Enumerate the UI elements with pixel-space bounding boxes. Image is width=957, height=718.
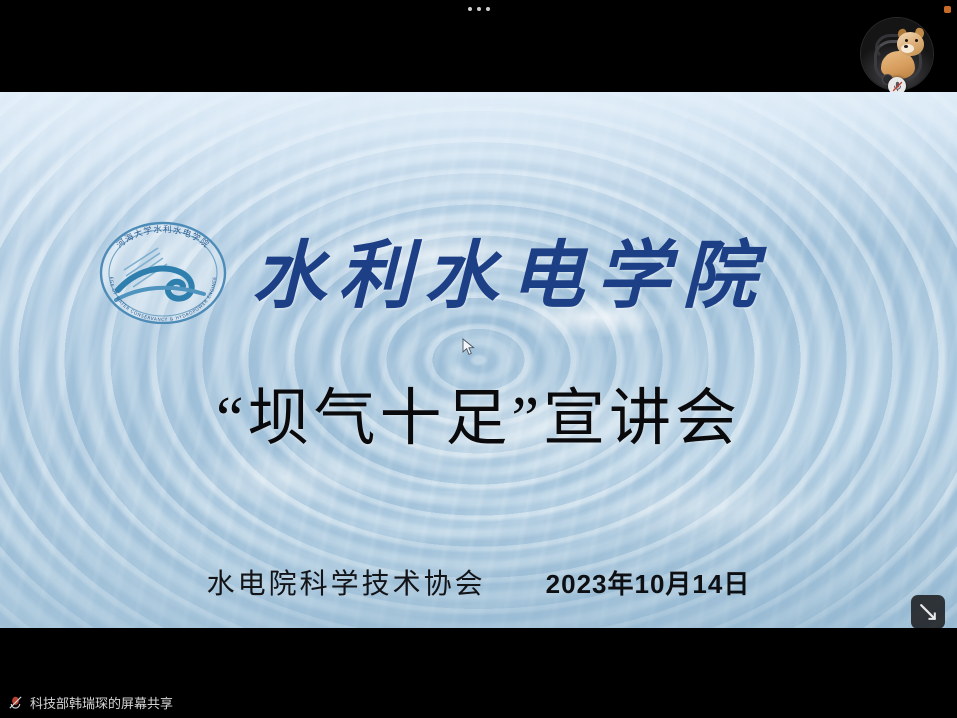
meeting-bottom-bar: 科技部韩瑞琛的屏幕共享 xyxy=(0,628,957,718)
dog-eye-left-shape xyxy=(905,39,908,42)
slide-main-title: “坝气十足”宣讲会 xyxy=(0,382,957,456)
slide-date-label: 2023年10月14日 xyxy=(546,564,751,601)
zoom-meeting-window: 水工1班尚婉玉 xyxy=(0,0,957,718)
slide-organizer-label: 水电院科学技术协会 xyxy=(207,562,486,602)
participant-video-tile[interactable]: 水工1班尚婉玉 xyxy=(861,18,933,90)
screen-share-text: 科技部韩瑞琛的屏幕共享 xyxy=(30,693,173,712)
slide-subtitle-row: 水电院科学技术协会 2023年10月14日 xyxy=(0,562,957,602)
handle-dot xyxy=(486,7,490,11)
expand-diagonal-arrow-icon[interactable] xyxy=(911,595,945,629)
handle-dot xyxy=(468,7,472,11)
screen-share-icon xyxy=(8,695,23,710)
screen-share-status: 科技部韩瑞琛的屏幕共享 xyxy=(8,693,173,712)
slide-college-name: 水利水电学院 xyxy=(252,230,832,324)
dog-eye-right-shape xyxy=(915,39,918,42)
hohai-water-conservancy-college-seal: 河海大学水利水电学院 COLLEGE OF WATER CONSERVANCY … xyxy=(84,220,242,324)
recording-dot-icon xyxy=(944,6,951,13)
three-dots-handle-icon[interactable] xyxy=(462,4,496,14)
handle-dot xyxy=(477,7,481,11)
meeting-top-bar: 水工1班尚婉玉 xyxy=(0,0,957,92)
dog-nose-shape xyxy=(904,45,908,48)
shared-screen-slide[interactable]: 河海大学水利水电学院 COLLEGE OF WATER CONSERVANCY … xyxy=(0,92,957,628)
